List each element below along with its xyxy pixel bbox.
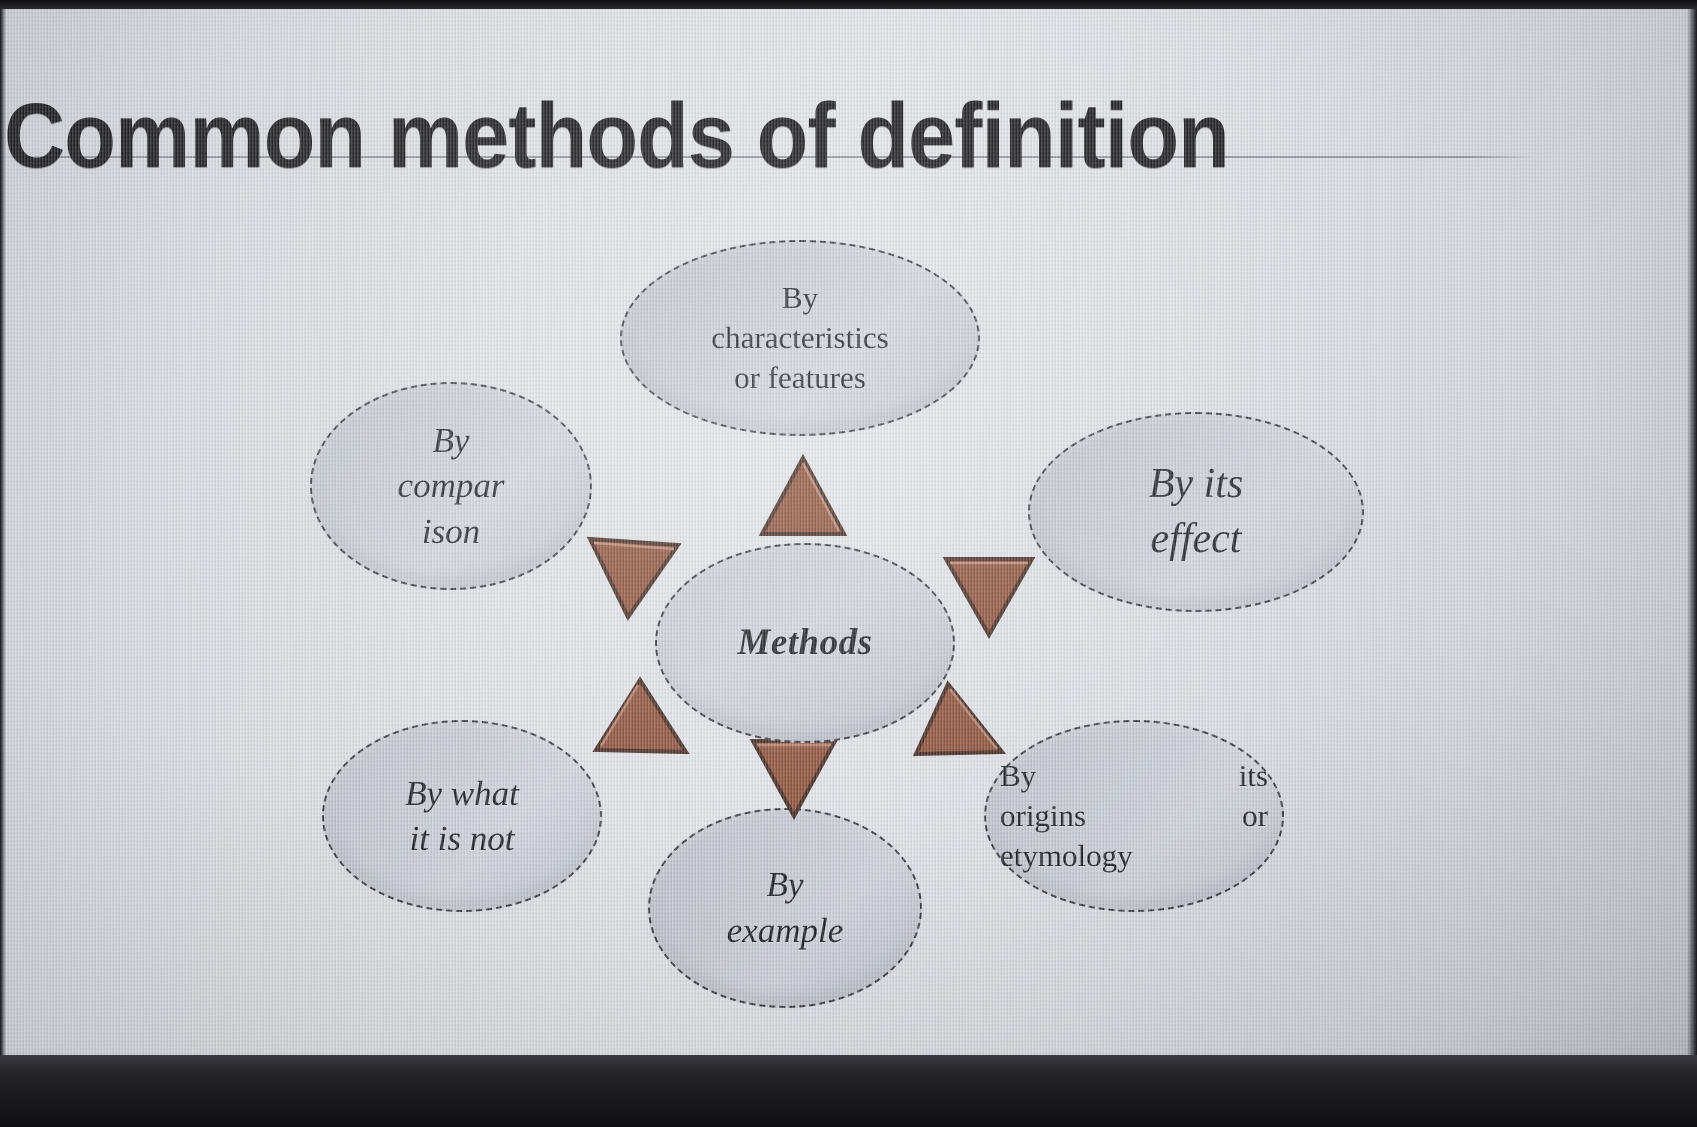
screen-bezel-right — [1687, 0, 1697, 1127]
node-line-1: By — [433, 421, 470, 460]
node-line-1: By — [782, 280, 818, 315]
node-line-1: By its — [1149, 461, 1243, 507]
node-line-3: or features — [734, 360, 866, 395]
node-line-2: characteristics — [711, 320, 888, 355]
node-line-3: etymology — [1000, 836, 1268, 876]
node-by-comparison[interactable]: By compar ison — [310, 382, 592, 590]
photographed-screen: Common methods of definition — [0, 0, 1697, 1127]
screen-bezel-top — [0, 0, 1697, 9]
node-line-3: ison — [422, 512, 480, 551]
node-line-1: By its — [1000, 756, 1268, 796]
node-by-example[interactable]: By example — [648, 808, 922, 1008]
node-line-1: By — [767, 865, 804, 904]
arrow-bottom-icon — [748, 736, 840, 820]
arrow-top-icon — [758, 454, 848, 538]
node-label: By its effect — [1139, 457, 1253, 568]
node-label: By its origins or etymology — [986, 756, 1282, 877]
node-by-its-origins-or-etymology[interactable]: By its origins or etymology — [984, 720, 1284, 912]
screen-bezel-bottom — [0, 1055, 1697, 1127]
node-label: By characteristics or features — [701, 278, 898, 397]
node-methods-center[interactable]: Methods — [655, 543, 955, 743]
node-label: By compar ison — [388, 418, 515, 555]
node-label: By example — [717, 862, 854, 954]
radial-diagram: By characteristics or features By compar… — [0, 8, 1697, 1058]
node-line-2: example — [727, 911, 844, 950]
node-by-characteristics-or-features[interactable]: By characteristics or features — [620, 240, 980, 436]
node-line-2: origins or — [1000, 796, 1268, 836]
node-line-2: compar — [398, 466, 505, 505]
node-line-1: By what — [405, 774, 519, 813]
node-by-what-it-is-not[interactable]: By what it is not — [322, 720, 602, 912]
node-label: Methods — [727, 620, 882, 665]
screen-bezel-left — [0, 0, 6, 1127]
arrow-upper-right-icon — [940, 553, 1036, 639]
slide-screen: Common methods of definition — [0, 8, 1697, 1058]
node-by-its-effect[interactable]: By its effect — [1028, 412, 1364, 612]
node-label: By what it is not — [395, 771, 529, 862]
node-line-2: it is not — [409, 819, 514, 858]
node-line-2: effect — [1151, 516, 1242, 562]
